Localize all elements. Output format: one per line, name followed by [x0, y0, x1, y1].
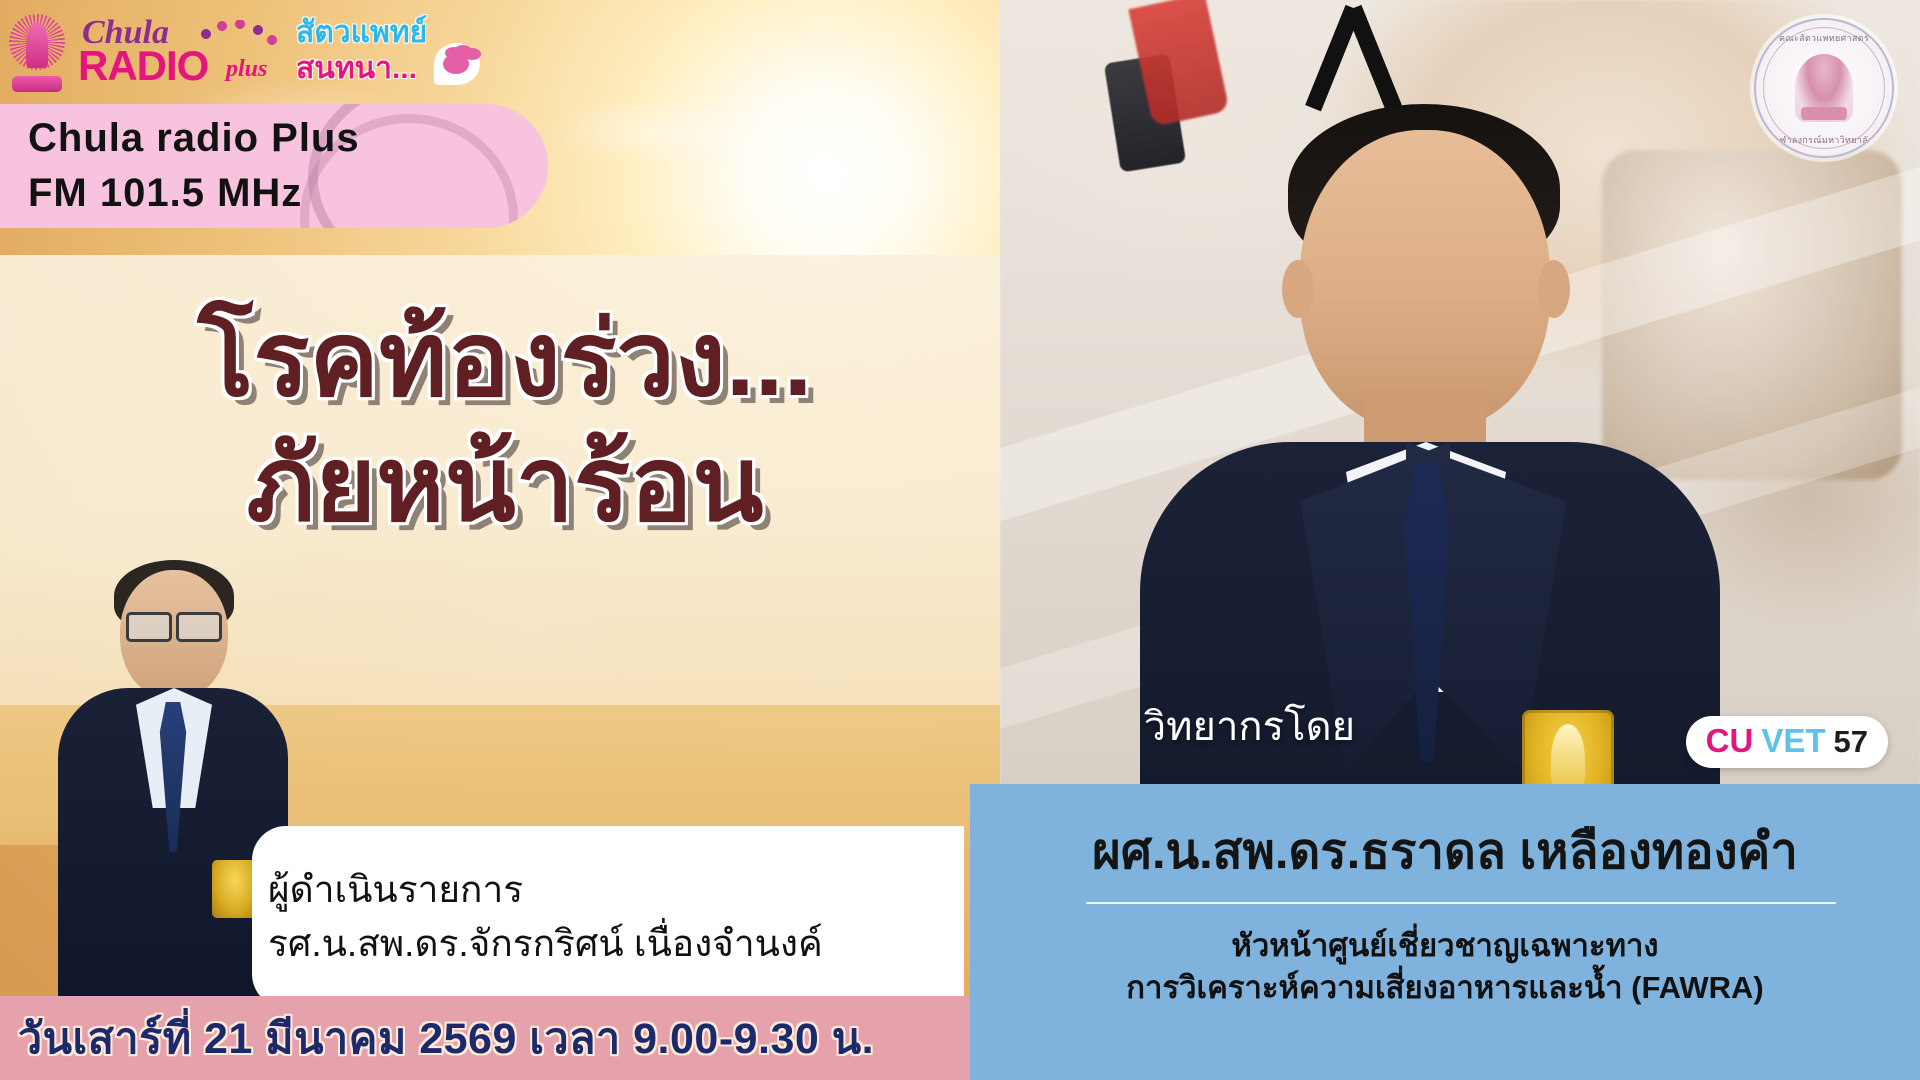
program-brand-logo: สัตวแพทย์ สนทนา...: [296, 9, 476, 95]
host-eyeglasses-icon: [126, 612, 222, 638]
cuvet-cu-text: CU: [1706, 722, 1754, 760]
headline-line-2: ภัยหน้าร้อน: [0, 425, 1010, 546]
cuvet-vet-text: VET: [1761, 722, 1825, 760]
chula-radio-plus-logo: Chula RADIO plus: [76, 12, 286, 92]
guest-panel-divider: [1086, 902, 1836, 904]
chula-emblem-icon: [8, 10, 66, 94]
logo-radio-text: RADIO: [78, 42, 208, 90]
emblem-crown: [26, 22, 48, 68]
guest-label: วิทยากรโดย: [1144, 694, 1355, 758]
seal-top-text: คณะสัตวแพทยศาสตร์: [1756, 31, 1892, 45]
guest-ear-right: [1538, 260, 1570, 318]
faculty-seal-icon: คณะสัตวแพทยศาสตร์ จุฬาลงกรณ์มหาวิทยาลัย: [1754, 18, 1894, 158]
guest-title-line-1: หัวหน้าศูนย์เชี่ยวชาญเฉพาะทาง: [970, 926, 1920, 965]
mourning-ribbon-icon: [1315, 8, 1387, 120]
headline-line-1: โรคท้องร่วง...: [0, 300, 1010, 421]
guest-face: [1300, 130, 1550, 430]
paw-print-icon: [434, 43, 480, 85]
logo-plus-text: plus: [226, 56, 267, 83]
seal-bottom-text: จุฬาลงกรณ์มหาวิทยาลัย: [1756, 133, 1892, 147]
host-name: รศ.น.สพ.ดร.จักรกริศน์ เนื่องจำนงค์: [268, 922, 964, 966]
host-role-label: ผู้ดำเนินรายการ: [268, 868, 964, 912]
station-badge: Chula radio Plus FM 101.5 MHz: [0, 104, 548, 228]
poster-canvas: คณะสัตวแพทยศาสตร์ จุฬาลงกรณ์มหาวิทยาลัย …: [0, 0, 1920, 1080]
guest-ear-left: [1282, 260, 1314, 318]
guest-name: ผศ.น.สพ.ดร.ธราดล เหลืองทองคำ: [970, 812, 1920, 890]
cuvet-number: 57: [1834, 724, 1868, 760]
logo-dots-icon: [198, 20, 280, 50]
host-info-panel: ผู้ดำเนินรายการ รศ.น.สพ.ดร.จักรกริศน์ เน…: [252, 826, 964, 1008]
emblem-base: [12, 76, 62, 92]
guest-info-panel: ผศ.น.สพ.ดร.ธราดล เหลืองทองคำ หัวหน้าศูนย…: [970, 784, 1920, 1080]
station-name: Chula radio Plus: [28, 111, 548, 166]
station-frequency: FM 101.5 MHz: [28, 166, 548, 221]
program-brand-line2: สนทนา...: [296, 45, 417, 92]
cuvet-badge: CU VET 57: [1686, 716, 1888, 768]
logo-bar: Chula RADIO plus สัตวแพทย์ สนทนา...: [0, 0, 470, 104]
page-title: โรคท้องร่วง... ภัยหน้าร้อน: [0, 300, 1010, 545]
guest-title-line-2: การวิเคราะห์ความเสี่ยงอาหารและน้ำ (FAWRA…: [970, 968, 1920, 1007]
schedule-text: วันเสาร์ที่ 21 มีนาคม 2569 เวลา 9.00-9.3…: [18, 1004, 874, 1072]
seal-emblem: [1795, 54, 1853, 122]
